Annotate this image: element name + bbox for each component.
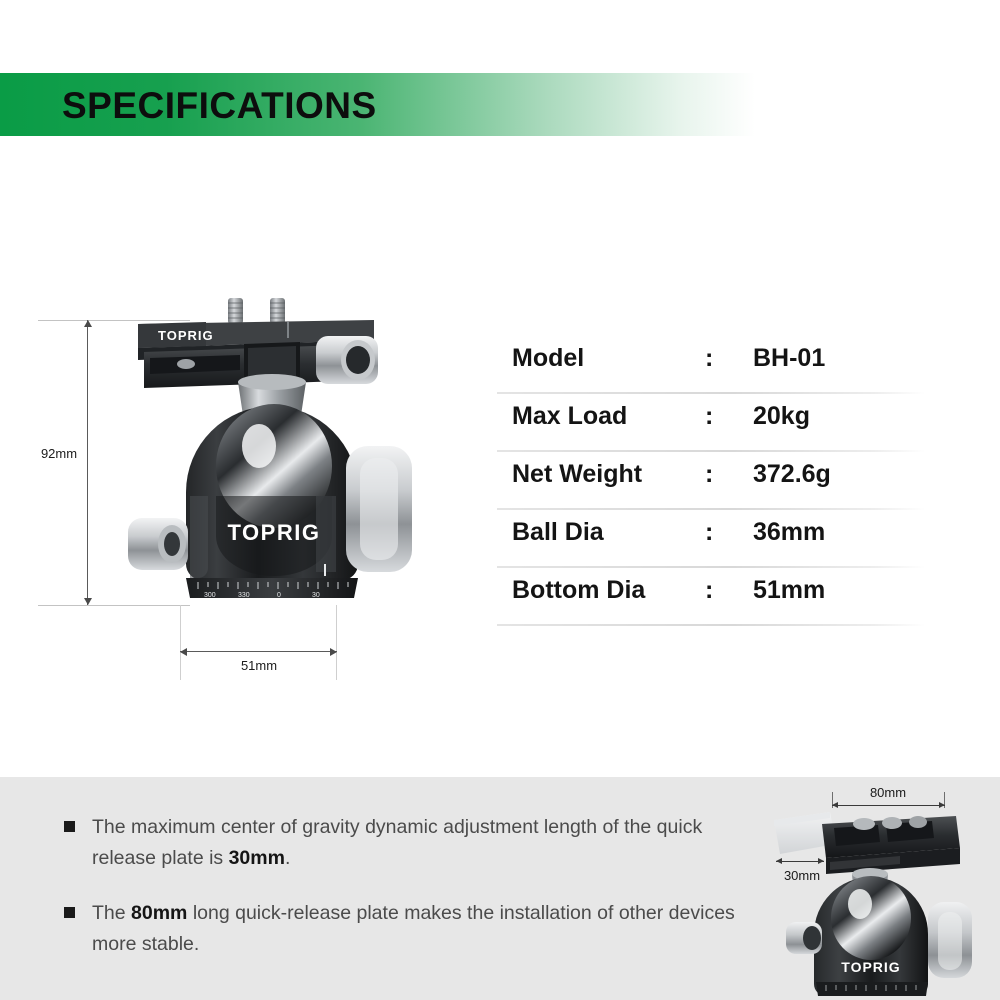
- spec-separator: :: [705, 344, 713, 373]
- feature-text-prefix: The: [92, 902, 131, 924]
- spec-value: 36mm: [753, 518, 825, 547]
- height-dimension-label: 92mm: [33, 444, 85, 463]
- list-item: The 80mm long quick-release plate makes …: [60, 898, 750, 960]
- feature-text-highlight: 30mm: [229, 847, 285, 869]
- table-row: Model : BH-01: [497, 336, 927, 394]
- width-dimension-arrow: [180, 651, 337, 652]
- list-item: The maximum center of gravity dynamic ad…: [60, 812, 750, 874]
- inset-tension-knob: [928, 902, 972, 978]
- table-row: Bottom Dia : 51mm: [497, 568, 927, 626]
- inset-product-image: TOPRIG: [760, 782, 1000, 1000]
- spec-label: Model: [512, 344, 584, 373]
- feature-text-suffix: long quick-release plate makes the insta…: [92, 902, 735, 955]
- specifications-table: Model : BH-01 Max Load : 20kg Net Weight…: [497, 336, 927, 626]
- pan-lock-knob: [128, 518, 188, 570]
- feature-text: The maximum center of gravity dynamic ad…: [92, 816, 702, 869]
- inset-80mm-label: 80mm: [848, 785, 928, 800]
- svg-text:TOPRIG: TOPRIG: [841, 959, 900, 975]
- specifications-page: SPECIFICATIONS 92mm 51mm: [0, 0, 1000, 1000]
- spec-value: BH-01: [753, 344, 825, 373]
- plate-screws: [228, 298, 285, 324]
- inset-quick-release-plate: [822, 816, 960, 874]
- tension-knob: [346, 446, 412, 572]
- spec-label: Bottom Dia: [512, 576, 645, 605]
- spec-separator: :: [705, 518, 713, 547]
- height-dimension-arrow: [87, 320, 88, 605]
- table-row: Max Load : 20kg: [497, 394, 927, 452]
- width-dimension-label: 51mm: [228, 658, 290, 673]
- spec-separator: :: [705, 576, 713, 605]
- svg-text:330: 330: [238, 592, 250, 599]
- ballhead-product-image: TOPRIG: [120, 296, 420, 608]
- inset-80mm-arrow: [832, 805, 945, 806]
- feature-text-suffix: .: [285, 847, 290, 869]
- spec-label: Ball Dia: [512, 518, 604, 547]
- features-list: The maximum center of gravity dynamic ad…: [60, 812, 750, 984]
- table-row: Ball Dia : 36mm: [497, 510, 927, 568]
- svg-text:TOPRIG: TOPRIG: [158, 328, 214, 343]
- svg-text:0: 0: [277, 592, 281, 599]
- page-title: SPECIFICATIONS: [62, 86, 377, 126]
- svg-text:30: 30: [312, 592, 320, 599]
- plate-lock-knob: [316, 336, 378, 384]
- width-extension-right: [336, 605, 337, 680]
- inset-30mm-label: 30mm: [772, 868, 832, 883]
- spec-value: 51mm: [753, 576, 825, 605]
- spec-value: 20kg: [753, 402, 810, 431]
- inset-30mm-arrow: [776, 861, 824, 862]
- feature-text-highlight: 80mm: [131, 902, 187, 924]
- spec-value: 372.6g: [753, 460, 831, 489]
- bullet-square-icon: [64, 907, 75, 918]
- ballhead-body: TOPRIG: [186, 404, 358, 580]
- spec-separator: :: [705, 460, 713, 489]
- svg-text:300: 300: [204, 592, 216, 599]
- row-divider: [497, 624, 925, 626]
- spec-label: Max Load: [512, 402, 627, 431]
- width-extension-left: [180, 605, 181, 680]
- inset-pan-lock-knob: [786, 922, 822, 954]
- spec-label: Net Weight: [512, 460, 642, 489]
- svg-text:TOPRIG: TOPRIG: [228, 520, 321, 545]
- feature-text-prefix: The maximum center of gravity dynamic ad…: [92, 816, 702, 869]
- bullet-square-icon: [64, 821, 75, 832]
- spec-separator: :: [705, 402, 713, 431]
- inset-ballhead-body: TOPRIG: [814, 876, 928, 996]
- table-row: Net Weight : 372.6g: [497, 452, 927, 510]
- feature-text: The 80mm long quick-release plate makes …: [92, 902, 735, 955]
